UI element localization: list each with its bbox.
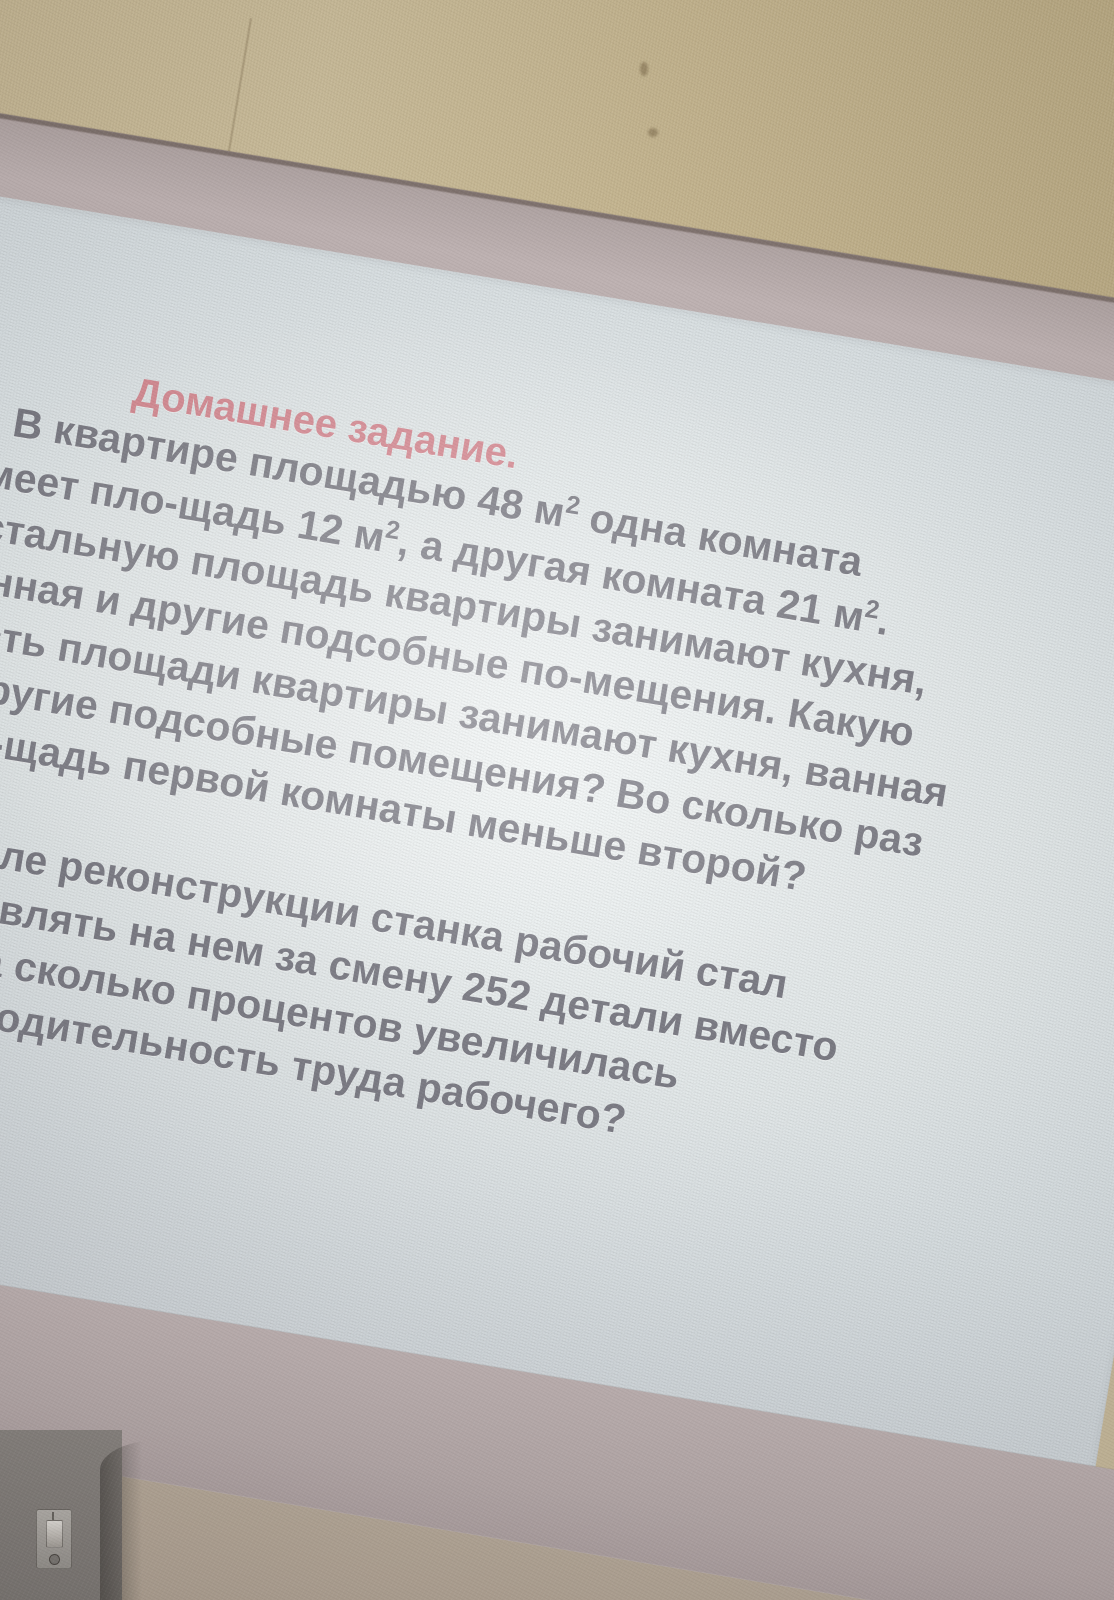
wall-blemish [640,62,648,76]
slide-content: Домашнее задание. 1. В квартире площадью… [0,344,1114,1211]
light-switch[interactable] [36,1509,72,1569]
wall-blemish [648,128,658,137]
light-switch-toggle[interactable] [46,1520,63,1548]
projector-screen-photo: Домашнее задание. 1. В квартире площадью… [0,0,1114,1600]
side-wall-corner-shadow [100,1440,160,1600]
light-switch-screw-hole [49,1554,60,1565]
